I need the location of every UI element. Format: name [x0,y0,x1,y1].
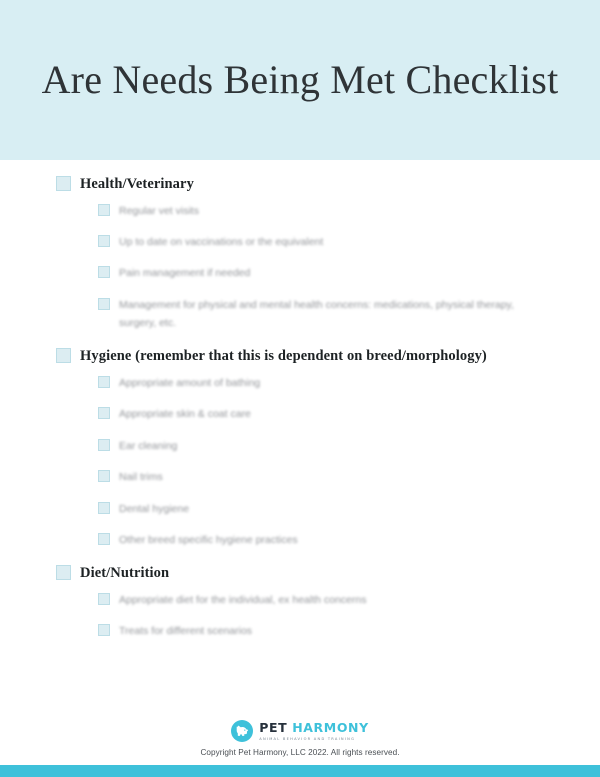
item-label: Dental hygiene [119,500,189,518]
section-title: Diet/Nutrition [80,563,169,584]
item-checkbox[interactable] [98,298,110,310]
page-title: Are Needs Being Met Checklist [2,58,599,103]
list-item[interactable]: Appropriate skin & coat care [98,405,548,423]
item-label: Other breed specific hygiene practices [119,531,298,549]
section-title: Hygiene (remember that this is dependent… [80,346,487,367]
checklist-section: Health/Veterinary Regular vet visits Up … [56,174,548,332]
item-checkbox[interactable] [98,266,110,278]
item-label: Treats for different scenarios [119,622,252,640]
section-items: Appropriate amount of bathing Appropriat… [56,374,548,549]
item-checkbox[interactable] [98,470,110,482]
checklist-page: Are Needs Being Met Checklist Health/Vet… [0,0,600,777]
bottom-accent-bar [0,765,600,777]
list-item[interactable]: Management for physical and mental healt… [98,296,548,333]
item-label: Appropriate skin & coat care [119,405,251,423]
section-items: Regular vet visits Up to date on vaccina… [56,202,548,333]
section-header[interactable]: Hygiene (remember that this is dependent… [56,346,548,367]
item-label: Regular vet visits [119,202,199,220]
section-checkbox[interactable] [56,348,71,363]
brand-logo: PET HARMONY ANIMAL BEHAVIOR AND TRAINING [0,720,600,742]
item-label: Appropriate amount of bathing [119,374,260,392]
item-checkbox[interactable] [98,533,110,545]
brand-tagline: ANIMAL BEHAVIOR AND TRAINING [259,738,369,742]
item-checkbox[interactable] [98,204,110,216]
item-checkbox[interactable] [98,376,110,388]
item-label: Ear cleaning [119,437,177,455]
item-checkbox[interactable] [98,407,110,419]
list-item[interactable]: Nail trims [98,468,548,486]
brand-name-harmony: HARMONY [292,720,369,735]
section-checkbox[interactable] [56,565,71,580]
item-checkbox[interactable] [98,624,110,636]
brand-wordmark: PET HARMONY ANIMAL BEHAVIOR AND TRAINING [259,720,369,742]
item-checkbox[interactable] [98,439,110,451]
item-label: Management for physical and mental healt… [119,296,539,333]
section-checkbox[interactable] [56,176,71,191]
list-item[interactable]: Regular vet visits [98,202,548,220]
list-item[interactable]: Appropriate diet for the individual, ex … [98,591,548,609]
item-checkbox[interactable] [98,593,110,605]
list-item[interactable]: Treats for different scenarios [98,622,548,640]
section-title: Health/Veterinary [80,174,194,195]
checklist-section: Hygiene (remember that this is dependent… [56,346,548,549]
copyright-text: Copyright Pet Harmony, LLC 2022. All rig… [0,748,600,757]
item-label: Nail trims [119,468,163,486]
item-checkbox[interactable] [98,502,110,514]
dog-head-icon [231,720,253,742]
list-item[interactable]: Appropriate amount of bathing [98,374,548,392]
item-label: Appropriate diet for the individual, ex … [119,591,366,609]
list-item[interactable]: Other breed specific hygiene practices [98,531,548,549]
brand-name: PET HARMONY [259,720,369,735]
page-footer: PET HARMONY ANIMAL BEHAVIOR AND TRAINING… [0,720,600,765]
section-items: Appropriate diet for the individual, ex … [56,591,548,641]
item-label: Pain management if needed [119,264,250,282]
page-header-band: Are Needs Being Met Checklist [0,0,600,160]
checklist-body: Health/Veterinary Regular vet visits Up … [0,160,600,720]
item-label: Up to date on vaccinations or the equiva… [119,233,323,251]
section-header[interactable]: Health/Veterinary [56,174,548,195]
list-item[interactable]: Pain management if needed [98,264,548,282]
brand-name-pet: PET [259,720,287,735]
list-item[interactable]: Dental hygiene [98,500,548,518]
list-item[interactable]: Ear cleaning [98,437,548,455]
list-item[interactable]: Up to date on vaccinations or the equiva… [98,233,548,251]
section-header[interactable]: Diet/Nutrition [56,563,548,584]
item-checkbox[interactable] [98,235,110,247]
checklist-section: Diet/Nutrition Appropriate diet for the … [56,563,548,640]
